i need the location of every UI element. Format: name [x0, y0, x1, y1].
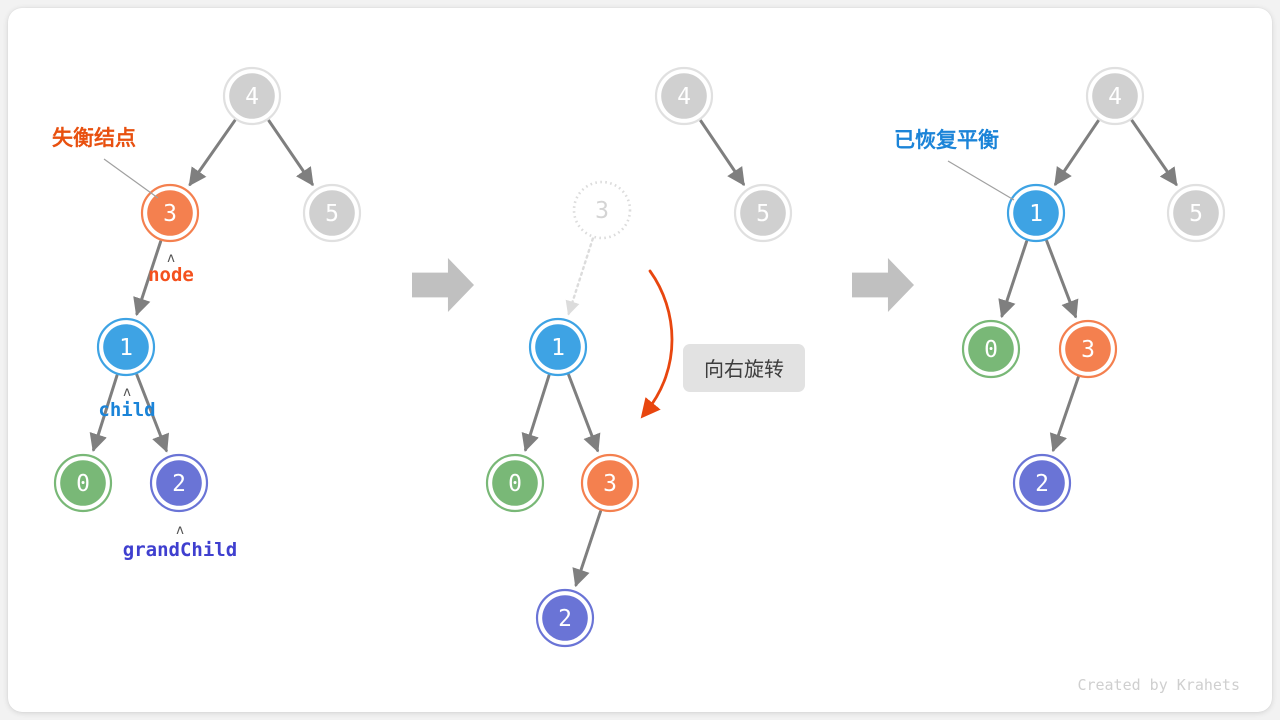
- node-value: 0: [984, 337, 998, 363]
- tree-edge: [1132, 121, 1176, 185]
- node-value: 5: [756, 201, 770, 227]
- diagram-canvas: 4531024531032451032 向右旋转 失衡结点ʌnodeʌchild…: [0, 0, 1280, 720]
- annotation-text: node: [148, 264, 194, 286]
- right-rotation-arrow: [646, 271, 672, 412]
- annotation-text: 已恢复平衡: [894, 128, 999, 152]
- tree-node[interactable]: 2: [1014, 455, 1070, 511]
- rotate-direction-badge[interactable]: 向右旋转: [683, 344, 805, 392]
- tree-node[interactable]: 3: [142, 185, 198, 241]
- tree-node[interactable]: 2: [537, 590, 593, 646]
- tree-edge: [1053, 377, 1078, 450]
- badge-label: 向右旋转: [704, 357, 784, 381]
- node-value: 2: [1035, 471, 1049, 497]
- balanced-node-label: 已恢复平衡: [894, 128, 1014, 200]
- annotation-text: 失衡结点: [52, 126, 136, 150]
- annotation-text: child: [98, 399, 155, 421]
- grandchild-pointer-label: ʌgrandChild: [123, 523, 237, 561]
- annotation-caret: ʌ: [123, 385, 131, 400]
- figure-stage: 4531024531032451032 向右旋转 失衡结点ʌnodeʌchild…: [0, 0, 1280, 720]
- badges-layer: 向右旋转: [683, 344, 805, 392]
- node-value: 5: [325, 201, 339, 227]
- node-value: 3: [163, 201, 177, 227]
- tree-node[interactable]: 3: [1060, 321, 1116, 377]
- transition-arrows-layer: [412, 258, 914, 312]
- node-value: 1: [119, 335, 133, 361]
- step-arrow-right: [852, 258, 914, 312]
- tree-node[interactable]: 4: [656, 68, 712, 124]
- annotation-leader-line: [948, 161, 1014, 200]
- tree-edge: [526, 376, 549, 450]
- tree-node[interactable]: 5: [304, 185, 360, 241]
- unbalanced-node-label: 失衡结点: [52, 126, 158, 198]
- tree-node[interactable]: 3: [582, 455, 638, 511]
- tree-node[interactable]: 4: [1087, 68, 1143, 124]
- node-value: 3: [595, 198, 609, 224]
- node-value: 1: [1029, 201, 1043, 227]
- tree-edge: [1056, 121, 1099, 184]
- annotation-caret: ʌ: [176, 523, 184, 538]
- node-value: 3: [603, 471, 617, 497]
- node-value: 2: [172, 471, 186, 497]
- watermark-text: Created by Krahets: [1077, 676, 1240, 694]
- tree-node[interactable]: 1: [98, 319, 154, 375]
- node-value: 2: [558, 606, 572, 632]
- rotation-arrow-layer: [646, 271, 672, 412]
- child-pointer-label: ʌchild: [98, 385, 155, 421]
- tree-edge: [569, 375, 598, 450]
- tree-node[interactable]: 1: [1008, 185, 1064, 241]
- tree-node[interactable]: 0: [55, 455, 111, 511]
- tree-node[interactable]: 4: [224, 68, 280, 124]
- tree-edge: [576, 511, 600, 584]
- annotation-text: grandChild: [123, 539, 237, 561]
- node-value: 4: [245, 84, 259, 110]
- node-value: 0: [508, 471, 522, 497]
- tree-node[interactable]: 5: [735, 185, 791, 241]
- tree-edge: [1047, 241, 1076, 316]
- tree-edge: [269, 121, 312, 184]
- node-value: 4: [1108, 84, 1122, 110]
- node-value: 0: [76, 471, 90, 497]
- tree-node[interactable]: 0: [963, 321, 1019, 377]
- node-value: 5: [1189, 201, 1203, 227]
- annotation-leader-line: [104, 159, 158, 198]
- tree-edge: [190, 121, 235, 185]
- tree-edge-ghost: [569, 239, 593, 314]
- tree-node[interactable]: 2: [151, 455, 207, 511]
- tree-node[interactable]: 0: [487, 455, 543, 511]
- step-arrow-left: [412, 258, 474, 312]
- tree-edge: [1002, 241, 1027, 315]
- node-value: 4: [677, 84, 691, 110]
- node-value: 3: [1081, 337, 1095, 363]
- tree-node[interactable]: 5: [1168, 185, 1224, 241]
- node-value: 1: [551, 335, 565, 361]
- tree-node[interactable]: 3: [574, 182, 630, 238]
- tree-node[interactable]: 1: [530, 319, 586, 375]
- tree-edge: [701, 121, 744, 184]
